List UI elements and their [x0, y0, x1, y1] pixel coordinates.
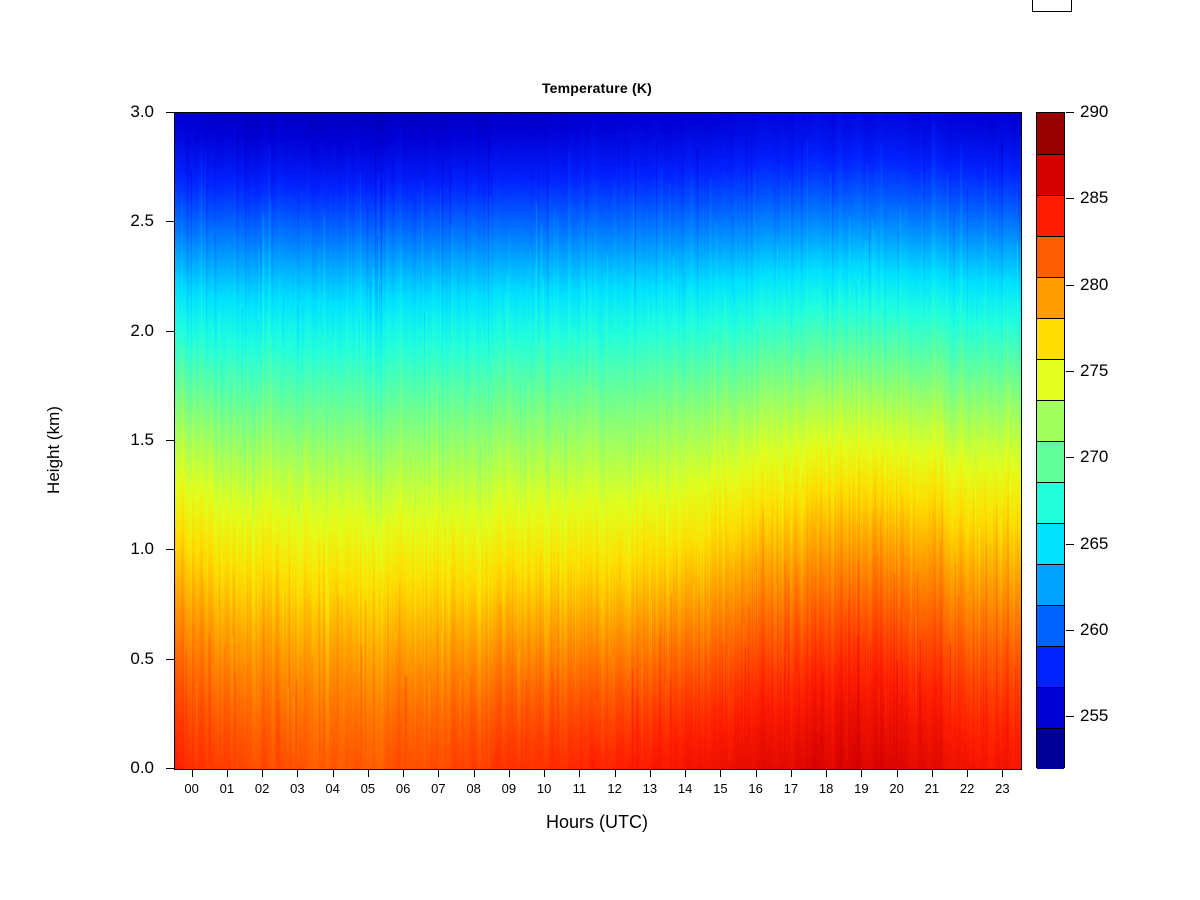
x-tick-mark — [967, 769, 968, 777]
x-tick-label: 10 — [524, 781, 564, 796]
x-tick-label: 20 — [877, 781, 917, 796]
x-tick-label: 00 — [172, 781, 212, 796]
colorbar-band — [1037, 400, 1064, 441]
colorbar-band — [1037, 236, 1064, 277]
x-tick-label: 17 — [771, 781, 811, 796]
x-tick-label: 06 — [383, 781, 423, 796]
y-tick-mark — [166, 440, 174, 441]
heatmap-plot-area — [174, 112, 1022, 770]
colorbar-tick-mark — [1066, 112, 1074, 113]
x-tick-label: 09 — [489, 781, 529, 796]
colorbar-band — [1037, 277, 1064, 318]
x-tick-label: 18 — [806, 781, 846, 796]
colorbar-tick-label: 280 — [1080, 275, 1108, 295]
colorbar-tick-label: 285 — [1080, 188, 1108, 208]
x-tick-label: 08 — [454, 781, 494, 796]
x-tick-label: 02 — [242, 781, 282, 796]
colorbar-tick-mark — [1066, 544, 1074, 545]
colorbar-band — [1037, 523, 1064, 564]
colorbar — [1036, 112, 1065, 768]
x-tick-mark — [227, 769, 228, 777]
x-tick-label: 15 — [700, 781, 740, 796]
colorbar-band — [1037, 154, 1064, 195]
x-tick-mark — [474, 769, 475, 777]
colorbar-band — [1037, 728, 1064, 769]
x-tick-label: 01 — [207, 781, 247, 796]
colorbar-tick-label: 270 — [1080, 447, 1108, 467]
x-tick-mark — [192, 769, 193, 777]
colorbar-tick-label: 290 — [1080, 102, 1108, 122]
colorbar-band — [1037, 605, 1064, 646]
y-tick-mark — [166, 112, 174, 113]
y-tick-label: 0.5 — [34, 649, 154, 669]
y-tick-mark — [166, 549, 174, 550]
colorbar-tick-label: 275 — [1080, 361, 1108, 381]
x-tick-label: 16 — [736, 781, 776, 796]
x-tick-label: 21 — [912, 781, 952, 796]
colorbar-band — [1037, 113, 1064, 154]
x-tick-label: 11 — [559, 781, 599, 796]
y-tick-label: 2.0 — [34, 321, 154, 341]
x-tick-label: 22 — [947, 781, 987, 796]
x-tick-mark — [403, 769, 404, 777]
x-tick-label: 03 — [277, 781, 317, 796]
colorbar-tick-mark — [1066, 716, 1074, 717]
x-axis: Hours (UTC) 0001020304050607080910111213… — [0, 769, 1200, 889]
y-axis: 0.00.51.01.52.02.53.0 — [0, 0, 174, 900]
x-tick-mark — [650, 769, 651, 777]
x-tick-mark — [544, 769, 545, 777]
x-tick-mark — [826, 769, 827, 777]
colorbar-ticks: 255260265270275280285290 — [1066, 112, 1200, 768]
page-title: Temperature (K) — [174, 80, 1020, 96]
colorbar-tick-label: 265 — [1080, 534, 1108, 554]
x-axis-title: Hours (UTC) — [174, 812, 1020, 833]
x-tick-label: 19 — [841, 781, 881, 796]
colorbar-tick-mark — [1066, 457, 1074, 458]
y-axis-title: Height (km) — [44, 350, 64, 550]
x-tick-label: 07 — [418, 781, 458, 796]
y-tick-mark — [166, 221, 174, 222]
colorbar-band — [1037, 646, 1064, 687]
colorbar-band — [1037, 359, 1064, 400]
x-tick-mark — [368, 769, 369, 777]
y-tick-label: 2.5 — [34, 211, 154, 231]
colorbar-tick-mark — [1066, 198, 1074, 199]
y-tick-mark — [166, 659, 174, 660]
x-tick-label: 13 — [630, 781, 670, 796]
colorbar-band — [1037, 318, 1064, 359]
x-tick-mark — [438, 769, 439, 777]
x-tick-label: 12 — [595, 781, 635, 796]
x-tick-mark — [791, 769, 792, 777]
colorbar-tick-mark — [1066, 630, 1074, 631]
colorbar-tick-label: 260 — [1080, 620, 1108, 640]
colorbar-tick-mark — [1066, 285, 1074, 286]
colorbar-band — [1037, 482, 1064, 523]
colorbar-tick-label: 255 — [1080, 706, 1108, 726]
colorbar-band — [1037, 441, 1064, 482]
temperature-time-height-figure: Temperature (K) 0.00.51.01.52.02.53.0 He… — [0, 0, 1200, 900]
x-tick-label: 05 — [348, 781, 388, 796]
x-tick-mark — [685, 769, 686, 777]
x-tick-mark — [932, 769, 933, 777]
x-tick-mark — [897, 769, 898, 777]
colorbar-band — [1037, 195, 1064, 236]
x-tick-label: 14 — [665, 781, 705, 796]
x-tick-mark — [1002, 769, 1003, 777]
x-tick-mark — [262, 769, 263, 777]
y-tick-label: 3.0 — [34, 102, 154, 122]
corner-patch — [1032, 0, 1072, 12]
colorbar-tick-mark — [1066, 371, 1074, 372]
x-tick-mark — [861, 769, 862, 777]
x-tick-label: 23 — [982, 781, 1022, 796]
heatmap-canvas — [175, 113, 1021, 769]
y-tick-mark — [166, 331, 174, 332]
x-tick-mark — [333, 769, 334, 777]
x-tick-mark — [297, 769, 298, 777]
x-tick-label: 04 — [313, 781, 353, 796]
colorbar-band — [1037, 687, 1064, 728]
x-tick-mark — [509, 769, 510, 777]
x-tick-mark — [579, 769, 580, 777]
x-tick-mark — [615, 769, 616, 777]
x-tick-mark — [756, 769, 757, 777]
colorbar-band — [1037, 564, 1064, 605]
x-tick-mark — [720, 769, 721, 777]
